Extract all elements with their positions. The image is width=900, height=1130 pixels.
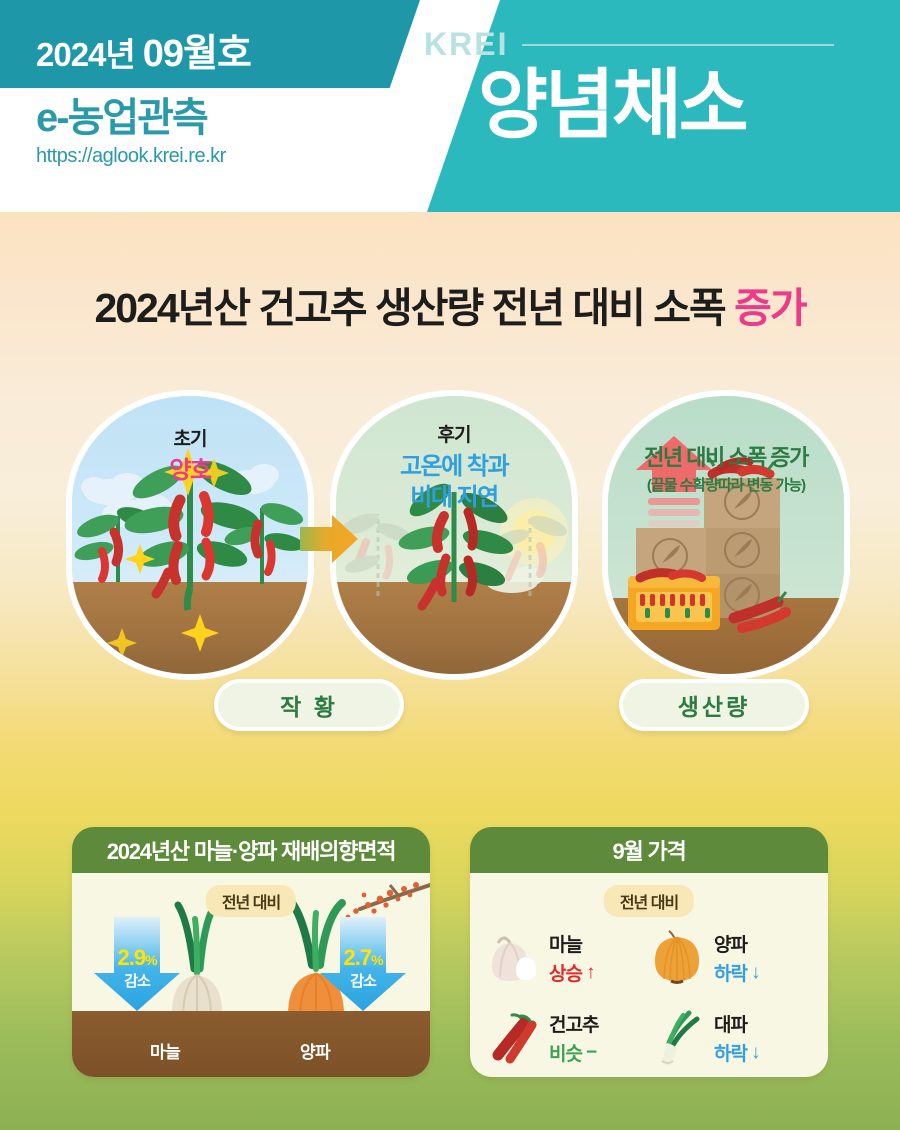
arrow-down-icon: ↓	[751, 1042, 760, 1064]
krei-row: KREI	[424, 26, 834, 63]
price-trend-dried-pepper: 비슷 −	[549, 1039, 598, 1066]
price-grid: 마늘 상승 ↑ 양파	[470, 925, 828, 1071]
price-trend-word-dried-pepper: 비슷	[549, 1039, 582, 1066]
card-price-title: 9월 가격	[470, 827, 828, 873]
panel-late-main2: 비대 지연	[342, 483, 566, 512]
price-name-dried-pepper: 건고추	[549, 1010, 598, 1037]
price-text-green-onion: 대파 하락 ↓	[714, 1010, 759, 1066]
price-trend-garlic: 상승 ↑	[549, 959, 594, 986]
page-title-highlight: 증가	[734, 285, 805, 331]
garlic-icon	[484, 929, 540, 987]
dried-pepper-icon	[484, 1009, 540, 1067]
panel-early-label: 초기 양호	[72, 424, 308, 485]
price-trend-word-garlic: 상승	[549, 959, 582, 986]
price-trend-word-green-onion: 하락	[714, 1039, 747, 1066]
krei-divider	[522, 44, 834, 46]
panel-production: 전년 대비 소폭 증가 (끝물 수확량따라 변동 가능)	[602, 390, 850, 680]
arrow-down-icon: ↓	[751, 962, 760, 984]
card-september-price: 9월 가격 전년 대비 마늘 상승 ↑	[470, 827, 828, 1077]
card-cultivation-title: 2024년산 마늘·양파 재배의향면적	[72, 827, 430, 873]
panel-production-main: 전년 대비 소폭 증가	[614, 445, 838, 472]
green-onion-icon	[649, 1009, 705, 1067]
price-name-green-onion: 대파	[714, 1010, 759, 1037]
issue-month: 09월호	[143, 33, 251, 75]
panel-production-label: 전년 대비 소폭 증가 (끝물 수확량따라 변동 가능)	[608, 440, 844, 495]
price-text-dried-pepper: 건고추 비슷 −	[549, 1010, 598, 1066]
badge-year-over-year: 전년 대비	[604, 885, 694, 917]
onion-direction-word: 감소	[320, 970, 406, 991]
arrow-onion-decrease: 2.7% 감소	[320, 917, 406, 1011]
price-item-onion[interactable]: 양파 하락 ↓	[649, 925, 814, 991]
badge-year-over-year: 전년 대비	[206, 885, 296, 917]
caption-production: 생산량	[619, 679, 809, 731]
price-text-garlic: 마늘 상승 ↑	[549, 930, 594, 986]
poster-root: 2024년09월호 e-농업관측 https://aglook.krei.re.…	[0, 0, 900, 1130]
brand-url[interactable]: https://aglook.krei.re.kr	[36, 145, 226, 168]
panel-late-stage: 후기 고온에 착과 비대 지연	[330, 390, 578, 680]
krei-logo: KREI	[424, 26, 508, 63]
price-trend-green-onion: 하락 ↓	[714, 1039, 759, 1066]
panel-late-label: 후기 고온에 착과 비대 지연	[336, 420, 572, 513]
price-trend-onion: 하락 ↓	[714, 959, 759, 986]
price-item-dried-pepper[interactable]: 건고추 비슷 −	[484, 1005, 649, 1071]
dash-flat-icon: −	[586, 1042, 596, 1064]
flow-arrow-icon	[300, 513, 358, 565]
caption-crop-condition: 작 황	[214, 679, 404, 731]
garlic-pct: 2.9%	[94, 945, 180, 971]
price-text-onion: 양파 하락 ↓	[714, 930, 759, 986]
garlic-direction-word: 감소	[94, 970, 180, 991]
panel-early-stage: 초기 양호	[66, 390, 314, 680]
price-name-garlic: 마늘	[549, 930, 594, 957]
card-soil-strip	[72, 1011, 430, 1077]
arrow-up-icon: ↑	[586, 962, 595, 984]
header-title: 양념채소	[478, 68, 746, 144]
price-item-garlic[interactable]: 마늘 상승 ↑	[484, 925, 649, 991]
onion-icon	[649, 929, 705, 987]
production-boxes-illustration	[608, 396, 844, 674]
poster-header: 2024년09월호 e-농업관측 https://aglook.krei.re.…	[0, 0, 900, 212]
page-title-text: 2024년산 건고추 생산량 전년 대비 소폭	[94, 285, 734, 331]
price-item-green-onion[interactable]: 대파 하락 ↓	[649, 1005, 814, 1071]
soil-label-onion: 양파	[300, 1038, 330, 1063]
brand-block: e-농업관측 https://aglook.krei.re.kr	[36, 98, 226, 168]
price-trend-word-onion: 하락	[714, 959, 747, 986]
panel-production-note: (끝물 수확량따라 변동 가능)	[614, 474, 838, 495]
issue-year: 2024년	[36, 36, 135, 73]
issue-label: 2024년09월호	[36, 22, 251, 77]
panel-early-main: 양호	[78, 456, 302, 485]
card-cultivation-body: 전년 대비	[72, 873, 430, 1077]
card-price-body: 전년 대비 마늘 상승 ↑	[470, 873, 828, 1077]
onion-pct: 2.7%	[320, 945, 406, 971]
card-cultivation-area: 2024년산 마늘·양파 재배의향면적 전년 대비	[72, 827, 430, 1077]
price-name-onion: 양파	[714, 930, 759, 957]
arrow-garlic-decrease: 2.9% 감소	[94, 917, 180, 1011]
soil-label-garlic: 마늘	[150, 1038, 180, 1063]
brand-name: e-농업관측	[36, 98, 226, 138]
panel-late-sub: 후기	[342, 420, 566, 447]
page-title: 2024년산 건고추 생산량 전년 대비 소폭 증가	[0, 274, 900, 334]
panel-late-main1: 고온에 착과	[342, 452, 566, 481]
panel-early-sub: 초기	[78, 424, 302, 451]
